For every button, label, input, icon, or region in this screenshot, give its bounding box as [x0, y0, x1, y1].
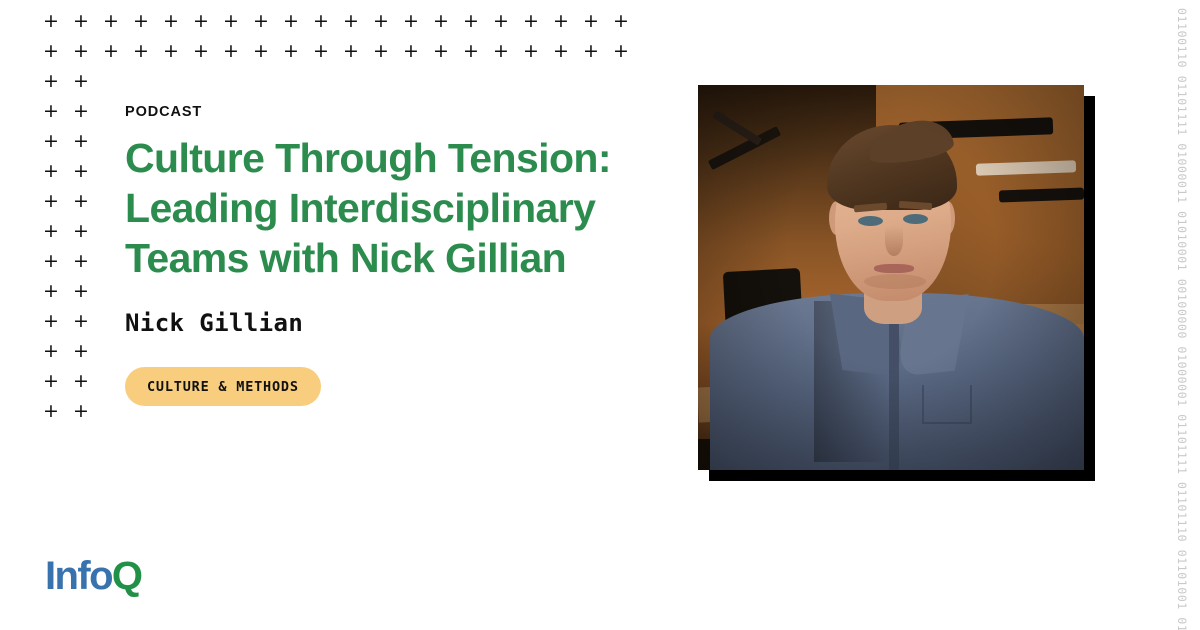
plus-icon: +: [43, 73, 59, 89]
plus-icon: +: [163, 43, 179, 59]
plus-icon: +: [73, 373, 89, 389]
plus-icon: +: [73, 313, 89, 329]
plus-icon: +: [313, 43, 329, 59]
plus-icon: +: [43, 193, 59, 209]
plus-icon: +: [583, 43, 599, 59]
logo-info-text: Info: [45, 554, 112, 598]
plus-icon: +: [73, 73, 89, 89]
plus-icon: +: [553, 13, 569, 29]
plus-icon: +: [343, 43, 359, 59]
plus-icon: +: [73, 43, 89, 59]
tag-badge-culture-and-methods[interactable]: CULTURE & METHODS: [125, 367, 321, 406]
plus-icon: +: [43, 133, 59, 149]
plus-icon: +: [313, 13, 329, 29]
plus-icon: +: [373, 43, 389, 59]
plus-icon: +: [253, 43, 269, 59]
plus-icon: +: [283, 13, 299, 29]
plus-icon: +: [73, 133, 89, 149]
plus-icon: +: [43, 103, 59, 119]
plus-icon: +: [613, 13, 629, 29]
plus-icon: +: [73, 343, 89, 359]
author-name: Nick Gillian: [125, 309, 665, 337]
plus-icon: +: [463, 13, 479, 29]
plus-icon: +: [193, 13, 209, 29]
plus-icon: +: [73, 163, 89, 179]
plus-icon: +: [433, 13, 449, 29]
plus-icon: +: [163, 13, 179, 29]
podcast-promo-card: ++++++++++++++++++++++++++++++++++++++++…: [0, 0, 1200, 630]
plus-icon: +: [583, 13, 599, 29]
plus-icon: +: [73, 253, 89, 269]
plus-icon: +: [43, 13, 59, 29]
plus-icon: +: [43, 253, 59, 269]
plus-icon: +: [283, 43, 299, 59]
plus-icon: +: [43, 313, 59, 329]
plus-icon: +: [493, 43, 509, 59]
plus-icon: +: [43, 283, 59, 299]
plus-icon: +: [403, 43, 419, 59]
plus-icon: +: [43, 223, 59, 239]
plus-icon: +: [43, 403, 59, 419]
plus-icon: +: [103, 43, 119, 59]
plus-icon: +: [133, 13, 149, 29]
page-title: Culture Through Tension: Leading Interdi…: [125, 133, 665, 283]
plus-icon: +: [253, 13, 269, 29]
plus-icon: +: [43, 43, 59, 59]
plus-icon: +: [343, 13, 359, 29]
plus-icon: +: [43, 163, 59, 179]
infoq-logo[interactable]: InfoQ: [45, 556, 141, 596]
plus-icon: +: [613, 43, 629, 59]
plus-icon: +: [133, 43, 149, 59]
plus-icon: +: [73, 223, 89, 239]
plus-icon: +: [73, 193, 89, 209]
plus-icon: +: [193, 43, 209, 59]
content-column: PODCAST Culture Through Tension: Leading…: [125, 104, 665, 406]
speaker-photo: [698, 85, 1084, 470]
logo-q-text: Q: [112, 554, 142, 598]
plus-icon: +: [403, 13, 419, 29]
plus-icon: +: [523, 43, 539, 59]
plus-icon: +: [223, 13, 239, 29]
plus-icon: +: [43, 373, 59, 389]
plus-icon: +: [463, 43, 479, 59]
plus-icon: +: [373, 13, 389, 29]
content-type-label: PODCAST: [125, 104, 665, 120]
tag-list: CULTURE & METHODS: [125, 367, 665, 406]
binary-strip-decoration: 01100110 01101111 01000011 01010001 0010…: [1164, 0, 1200, 630]
plus-icon: +: [493, 13, 509, 29]
plus-icon: +: [73, 403, 89, 419]
plus-icon: +: [73, 283, 89, 299]
binary-text: 01100110 01101111 01000011 01010001 0010…: [1175, 8, 1189, 630]
plus-icon: +: [73, 13, 89, 29]
plus-icon: +: [73, 103, 89, 119]
speaker-photo-container: [698, 85, 1084, 470]
plus-icon: +: [223, 43, 239, 59]
plus-icon: +: [553, 43, 569, 59]
plus-icon: +: [103, 13, 119, 29]
plus-icon: +: [43, 343, 59, 359]
plus-icon: +: [523, 13, 539, 29]
plus-icon: +: [433, 43, 449, 59]
